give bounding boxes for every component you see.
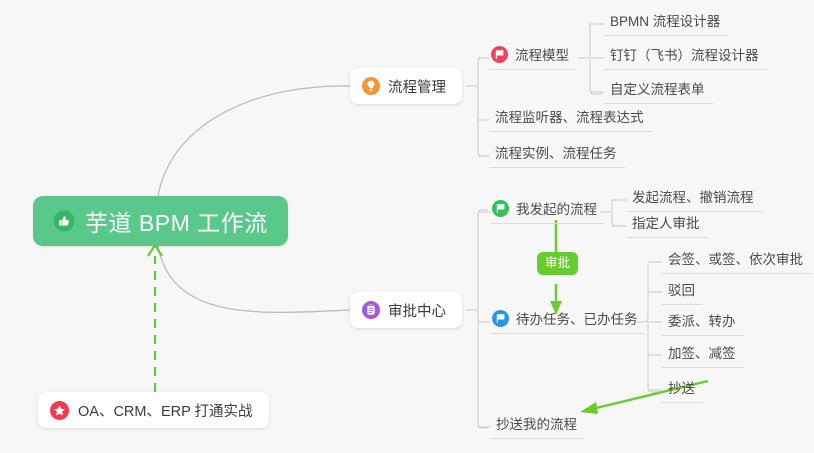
wire-ac-spine	[478, 210, 488, 428]
node-todo-done-task[interactable]: 待办任务、已办任务	[490, 308, 644, 334]
flag-icon	[492, 310, 509, 327]
root-node[interactable]: 芋道 BPM 工作流	[33, 196, 288, 246]
annotation-callout-arrowhead	[148, 245, 162, 256]
wire-model-spine	[578, 24, 602, 94]
callout-label: OA、CRM、ERP 打通实战	[78, 400, 253, 421]
node-label: 我发起的流程	[516, 198, 597, 218]
leaf-instance-task[interactable]: 流程实例、流程任务	[489, 142, 625, 168]
wire-root-to-process-management	[158, 86, 350, 196]
mindmap-canvas: 芋道 BPM 工作流 流程管理 流程模型 BPMN 流程设计器 钉钉（飞书）流程…	[0, 0, 814, 453]
leaf-reject[interactable]: 驳回	[662, 279, 703, 305]
leaf-custom-form[interactable]: 自定义流程表单	[604, 78, 713, 104]
root-label: 芋道 BPM 工作流	[85, 204, 268, 238]
node-label: 待办任务、已办任务	[516, 308, 638, 328]
leaf-assignee-approval[interactable]: 指定人审批	[626, 212, 708, 238]
branch-label: 流程管理	[388, 76, 446, 97]
flag-icon	[492, 200, 509, 217]
node-label: 流程模型	[515, 44, 569, 64]
leaf-add-remove-sign[interactable]: 加签、减签	[662, 342, 744, 368]
thumbs-up-icon	[53, 210, 75, 232]
star-icon	[50, 401, 69, 420]
leaf-start-cancel-process[interactable]: 发起流程、撤销流程	[626, 186, 762, 212]
clipboard-icon	[362, 301, 380, 319]
leaf-bpmn-designer[interactable]: BPMN 流程设计器	[604, 10, 728, 36]
callout-integration[interactable]: OA、CRM、ERP 打通实战	[38, 392, 269, 428]
flag-icon	[491, 46, 508, 63]
wire-root-to-approval-center	[158, 246, 350, 312]
branch-process-management[interactable]: 流程管理	[350, 68, 462, 104]
node-process-model[interactable]: 流程模型	[489, 44, 575, 70]
leaf-delegate-transfer[interactable]: 委派、转办	[662, 310, 744, 336]
wire-init-spine	[600, 200, 624, 226]
wire-pm-spine	[478, 58, 486, 156]
leaf-cc-to-me[interactable]: 抄送我的流程	[490, 413, 585, 439]
leaf-listener-expression[interactable]: 流程监听器、流程表达式	[489, 106, 652, 132]
lightbulb-icon	[362, 77, 380, 95]
leaf-countersign[interactable]: 会签、或签、依次审批	[662, 248, 811, 274]
leaf-cc[interactable]: 抄送	[662, 377, 703, 403]
branch-label: 审批中心	[388, 300, 446, 321]
leaf-dingtalk-designer[interactable]: 钉钉（飞书）流程设计器	[604, 44, 767, 70]
node-my-initiated[interactable]: 我发起的流程	[490, 198, 603, 224]
branch-approval-center[interactable]: 审批中心	[350, 292, 462, 328]
approval-annotation-badge: 审批	[537, 252, 578, 275]
